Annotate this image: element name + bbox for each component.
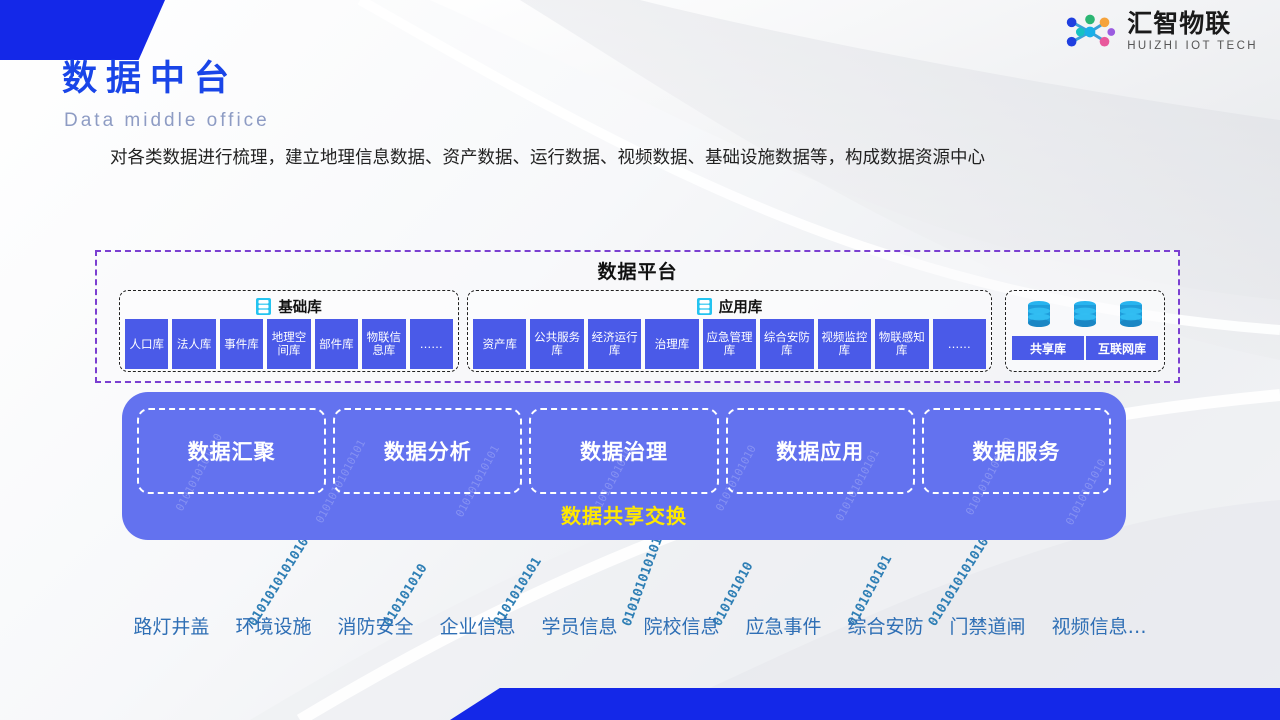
capability-item[interactable]: 数据服务 <box>922 408 1111 494</box>
brand-logo: 汇智物联 HUIZHI IOT TECH <box>1061 10 1258 54</box>
capability-item[interactable]: 数据汇聚 <box>137 408 326 494</box>
brand-name-en: HUIZHI IOT TECH <box>1127 41 1258 53</box>
tile-label: 地理空间库 <box>268 331 309 357</box>
source-tag[interactable]: 院校信息 <box>644 612 720 639</box>
source-tag[interactable]: 应急事件 <box>746 612 822 639</box>
tile-item[interactable]: 物联信息库 <box>362 319 405 369</box>
corner-accent-top-left <box>0 0 165 60</box>
tile-label: 人口库 <box>129 338 164 351</box>
tile-label: 视频监控库 <box>819 331 870 357</box>
capability-item[interactable]: 数据应用 <box>726 408 915 494</box>
tile-shared-library[interactable]: 共享库 <box>1012 336 1084 360</box>
page-title: 数据中台 <box>62 62 238 97</box>
page-description: 对各类数据进行梳理，建立地理信息数据、资产数据、运行数据、视频数据、基础设施数据… <box>110 137 1180 180</box>
page-subtitle: Data middle office <box>64 110 270 132</box>
tile-label: 公共服务库 <box>531 331 582 357</box>
group-shared-library: 共享库 互联网库 <box>1005 290 1165 372</box>
tile-item-more[interactable]: …… <box>410 319 453 369</box>
source-tag[interactable]: 门禁道闸 <box>950 612 1026 639</box>
source-tag[interactable]: 综合安防 <box>848 612 924 639</box>
tile-item[interactable]: 地理空间库 <box>267 319 310 369</box>
source-tag[interactable]: 视频信息… <box>1052 612 1147 639</box>
tile-item[interactable]: 事件库 <box>220 319 263 369</box>
group-application-header: 应用库 <box>468 294 991 318</box>
server-rack-icon <box>697 298 712 315</box>
group-basic-tiles: 人口库 法人库 事件库 地理空间库 部件库 物联信息库 …… <box>120 319 458 369</box>
tile-item[interactable]: 部件库 <box>315 319 358 369</box>
corner-accent-bottom-right <box>450 688 1280 720</box>
database-cylinder-icon <box>1116 299 1146 329</box>
group-application-tiles: 资产库 公共服务库 经济运行库 治理库 应急管理库 综合安防库 视频监控库 物联… <box>468 319 991 369</box>
group-application-library: 应用库 资产库 公共服务库 经济运行库 治理库 应急管理库 综合安防库 视频监控… <box>467 290 992 372</box>
tile-item[interactable]: 法人库 <box>172 319 215 369</box>
data-platform-title: 数据平台 <box>97 257 1178 284</box>
tile-item[interactable]: 资产库 <box>473 319 526 369</box>
tile-item[interactable]: 人口库 <box>125 319 168 369</box>
tile-internet-library[interactable]: 互联网库 <box>1086 336 1158 360</box>
data-platform-panel: 数据平台 基础库 人口库 法人库 事件库 地理空间库 部件库 物联信息库 …… <box>95 250 1180 383</box>
tile-label: 物联感知库 <box>876 331 927 357</box>
tile-item[interactable]: 应急管理库 <box>703 319 756 369</box>
tile-label: 部件库 <box>319 338 354 351</box>
tile-item-more[interactable]: …… <box>933 319 986 369</box>
tile-label: …… <box>420 338 443 351</box>
tile-label: 综合安防库 <box>761 331 812 357</box>
brand-name-cn: 汇智物联 <box>1127 11 1258 36</box>
tile-label: 事件库 <box>224 338 259 351</box>
source-tag[interactable]: 环境设施 <box>235 612 311 639</box>
group-basic-library: 基础库 人口库 法人库 事件库 地理空间库 部件库 物联信息库 …… <box>119 290 459 372</box>
tile-label: 应急管理库 <box>704 331 755 357</box>
source-tag[interactable]: 学员信息 <box>541 612 617 639</box>
tile-item[interactable]: 视频监控库 <box>818 319 871 369</box>
tile-label: 资产库 <box>482 338 517 351</box>
tile-item[interactable]: 物联感知库 <box>875 319 928 369</box>
capability-row: 数据汇聚 数据分析 数据治理 数据应用 数据服务 <box>122 392 1126 494</box>
tile-label: 经济运行库 <box>589 331 640 357</box>
tile-item[interactable]: 治理库 <box>645 319 698 369</box>
tile-label: 治理库 <box>655 338 690 351</box>
tile-item[interactable]: 经济运行库 <box>588 319 641 369</box>
shared-library-tiles: 共享库 互联网库 <box>1006 336 1164 360</box>
source-tag-list: 路灯井盖 环境设施 消防安全 企业信息 学员信息 院校信息 应急事件 综合安防 … <box>0 612 1280 639</box>
group-basic-label: 基础库 <box>278 296 322 317</box>
source-tag[interactable]: 路灯井盖 <box>133 612 209 639</box>
tile-item[interactable]: 综合安防库 <box>760 319 813 369</box>
molecule-network-icon <box>1061 10 1119 54</box>
tile-item[interactable]: 公共服务库 <box>530 319 583 369</box>
capability-footer-label: 数据共享交换 <box>122 500 1126 529</box>
tile-label: 法人库 <box>177 338 212 351</box>
tile-label: …… <box>948 338 971 351</box>
capability-item[interactable]: 数据分析 <box>333 408 522 494</box>
server-rack-icon <box>256 298 271 315</box>
capability-panel: 0101010101010 01010101010101 01010101010… <box>122 392 1126 540</box>
database-cylinder-row <box>1006 292 1164 336</box>
database-cylinder-icon <box>1070 299 1100 329</box>
source-tag[interactable]: 企业信息 <box>439 612 515 639</box>
database-cylinder-icon <box>1024 299 1054 329</box>
source-tag[interactable]: 消防安全 <box>337 612 413 639</box>
tile-label: 物联信息库 <box>363 331 404 357</box>
capability-item[interactable]: 数据治理 <box>529 408 718 494</box>
group-application-label: 应用库 <box>719 296 763 317</box>
group-basic-header: 基础库 <box>120 294 458 318</box>
